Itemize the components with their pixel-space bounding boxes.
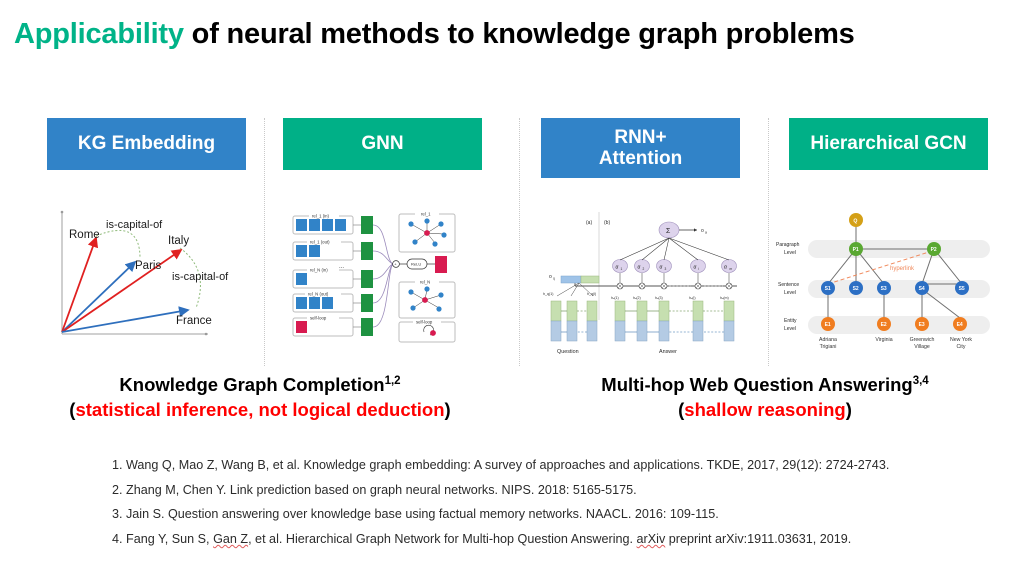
panel-divider-3 [768, 118, 769, 366]
sum-symbol: Σ [666, 228, 671, 235]
figure-hierarchical-graph: Paragraph Level Sentence Level Entity Le… [772, 196, 998, 358]
node-entity-4: E4 [957, 322, 963, 328]
hidden-label-2: hₐ(2) [633, 296, 641, 300]
caption-qa-note-line: (shallow reasoning) [530, 399, 1000, 421]
caption-kg-sup: 1,2 [385, 375, 401, 387]
rgcn-ellipsis: ... [339, 264, 344, 270]
caption-multihop-qa: Multi-hop Web Question Answering3,4 (sha… [530, 374, 1000, 421]
caption-qa-note: shallow reasoning [684, 399, 845, 420]
page-title: Applicability of neural methods to knowl… [14, 18, 1014, 51]
node-sentence-1: S1 [825, 286, 831, 292]
panel-header-rnn-line1: RNN+ [614, 127, 666, 148]
caption-kg-title: Knowledge Graph Completion [119, 374, 384, 395]
caption-qa-sup: 3,4 [913, 375, 929, 387]
alpha-label-1: α [616, 265, 619, 271]
caption-qa-title: Multi-hop Web Question Answering [601, 374, 912, 395]
alpha-label-m: α [724, 265, 727, 271]
reference-item: 3. Jain S. Question answering over knowl… [112, 507, 972, 523]
axis-label-answer: Answer [659, 349, 677, 355]
node-paragraph-1: P1 [853, 247, 859, 253]
node-sentence-4: S4 [919, 286, 925, 292]
page-title-accent: Applicability [14, 18, 184, 50]
page-title-rest: of neural methods to knowledge graph pro… [184, 18, 855, 50]
reference-item: 1. Wang Q, Mao Z, Wang B, et al. Knowled… [112, 458, 972, 474]
figure-kg-embedding-vectors: Rome is-capital-of Paris Italy is-capita… [48, 196, 248, 348]
question-hidden-label-l: h_q(l) [587, 292, 596, 296]
node-sentence-3: S3 [881, 286, 887, 292]
caption-kg-completion: Knowledge Graph Completion1,2 (statistic… [20, 374, 500, 421]
entity-text-1-line1: Adriana [819, 337, 837, 343]
reference-item: 4. Fang Y, Sun S, Gan Z, et al. Hierarch… [112, 532, 972, 548]
question-output-label: o [549, 274, 552, 280]
panel-hierarchical-gcn: Hierarchical GCN [789, 118, 988, 170]
rgcn-activation-label: ReLU [411, 262, 421, 267]
rgcn-block-label-1: rel_1 (out) [310, 240, 330, 245]
alpha-sub-3: 3 [665, 267, 667, 271]
caption-qa-close-paren: ) [846, 399, 852, 420]
entity-text-4-line2: City [957, 344, 966, 350]
level-label-entity-2: Level [784, 326, 796, 332]
rgcn-graph-label-2: self-loop [416, 320, 433, 325]
figure-rgcn-block: rel_1 (in) rel_1 (out) ... rel_N (in) re… [283, 198, 483, 348]
vector-label-france: France [176, 315, 212, 327]
rgcn-graph-label-0: rel_1 [421, 212, 431, 217]
hidden-label-m: hₐ(m) [720, 296, 729, 300]
node-entity-1: E1 [825, 322, 831, 328]
panel-gnn: GNN [283, 118, 482, 170]
node-paragraph-2: P2 [931, 247, 937, 253]
level-label-paragraph-2: Level [784, 250, 796, 256]
alpha-sub-2: 2 [643, 267, 645, 271]
panel-header-rnn-line2: Attention [599, 148, 682, 169]
hidden-label-1: hₐ(1) [611, 296, 619, 300]
entity-text-4-line1: New York [950, 337, 972, 343]
level-label-entity-1: Entity [784, 318, 797, 324]
vector-label-italy: Italy [168, 235, 189, 247]
entity-text-2: Virginia [875, 337, 892, 343]
caption-kg-note-line: (statistical inference, not logical dedu… [20, 399, 500, 421]
references-list: 1. Wang Q, Mao Z, Wang B, et al. Knowled… [112, 458, 972, 557]
rgcn-block-label-4: self-loop [310, 316, 327, 321]
panel-kg-embedding: KG Embedding [47, 118, 246, 170]
caption-kg-note: statistical inference, not logical deduc… [75, 399, 444, 420]
panel-divider-1 [264, 118, 265, 366]
panel-header-gnn: GNN [283, 118, 482, 170]
panel-divider-2 [519, 118, 520, 366]
rgcn-graph-label-1: rel_N [420, 280, 430, 285]
output-subscript: a [705, 231, 707, 235]
vector-label-paris: Paris [135, 260, 161, 272]
rgcn-block-label-2: rel_N (in) [310, 268, 328, 273]
entity-text-1-line2: Trigiani [820, 344, 837, 350]
subplot-label-a: (a) [586, 220, 592, 226]
alpha-label-3: α [660, 265, 663, 271]
alpha-label-2: α [638, 265, 641, 271]
alpha-label-i: α [694, 265, 697, 271]
node-query: Q [853, 218, 857, 224]
reference-item: 2. Zhang M, Chen Y. Link prediction base… [112, 483, 972, 499]
vector-label-rome: Rome [69, 229, 100, 241]
node-sentence-2: S2 [853, 286, 859, 292]
alpha-sub-m: m [730, 267, 733, 271]
panel-header-hierarchical-gcn: Hierarchical GCN [789, 118, 988, 170]
hidden-label-3: hₐ(3) [655, 296, 663, 300]
hyperlink-edge-label: hyperlink [890, 266, 915, 272]
node-sentence-5: S5 [959, 286, 965, 292]
question-hidden-label-1: h_q(1) [543, 292, 553, 296]
hidden-label-i: hₐ(i) [689, 296, 696, 300]
node-entity-2: E2 [881, 322, 887, 328]
entity-text-3-line2: Village [914, 344, 930, 350]
level-label-sentence-2: Level [784, 290, 796, 296]
rgcn-block-label-0: rel_1 (in) [312, 214, 330, 219]
level-label-paragraph-1: Paragraph [776, 242, 800, 248]
panel-header-rnn-attention: RNN+ Attention [541, 118, 740, 178]
figure-bilstm-attention: (a) (b) Σ o a α 1 α 2 α 3 α i α m [541, 200, 746, 358]
subplot-label-b: (b) [604, 220, 610, 226]
relation-label-1: is-capital-of [106, 219, 163, 231]
entity-text-3-line1: Greenwich [910, 337, 935, 343]
node-entity-3: E3 [919, 322, 925, 328]
alpha-sub-1: 1 [621, 267, 623, 271]
panel-header-kg-embedding: KG Embedding [47, 118, 246, 170]
axis-label-question: Question [557, 349, 579, 355]
relation-label-2: is-capital-of [172, 271, 229, 283]
question-output-sub: q [553, 277, 555, 281]
caption-kg-close-paren: ) [445, 399, 451, 420]
panel-rnn-attention: RNN+ Attention [541, 118, 740, 178]
level-label-sentence-1: Sentence [778, 282, 799, 288]
output-label: o [701, 228, 704, 234]
rgcn-block-label-3: rel_N (out) [308, 292, 329, 297]
